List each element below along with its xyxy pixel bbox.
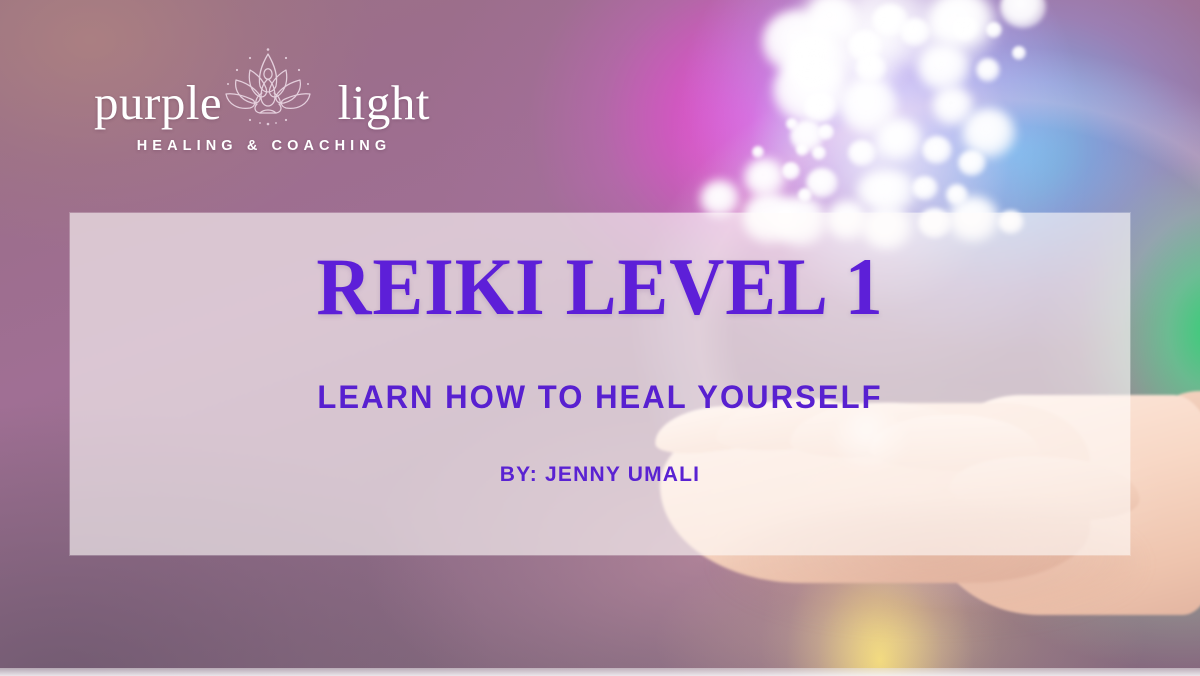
page-subtitle: LEARN HOW TO HEAL YOURSELF <box>18 381 1182 413</box>
brand-word-right: light <box>338 78 430 127</box>
presenter-byline: BY: JENNY UMALI <box>0 464 1200 485</box>
bottom-edge-strip <box>0 668 1200 676</box>
brand-logo: purple light <box>92 58 432 158</box>
brand-tagline: HEALING & COACHING <box>114 138 414 154</box>
page-title: REIKI LEVEL 1 <box>42 246 1158 328</box>
lotus-meditation-icon <box>220 46 316 132</box>
reiki-event-poster: purple light <box>0 0 1200 676</box>
brand-word-left: purple <box>94 78 222 127</box>
